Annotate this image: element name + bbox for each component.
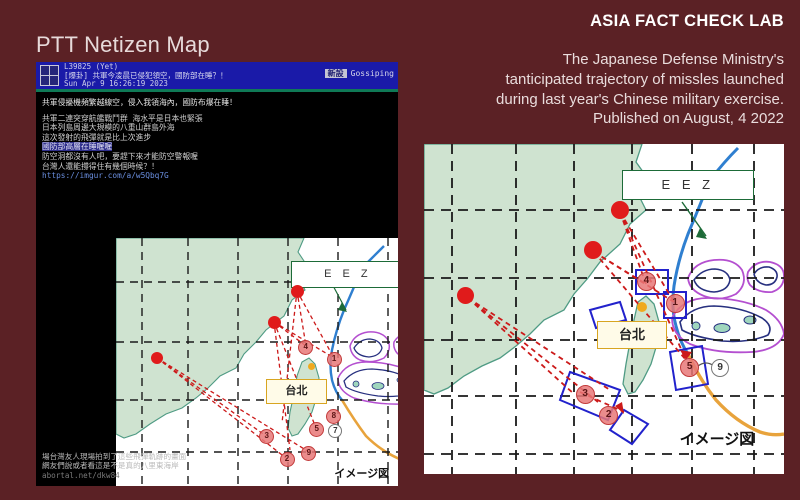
body-line-5: 國防部高層在睡喔喔: [42, 142, 392, 152]
body-line-2: 共軍二連突穿航艦戰鬥群 海水平是日本也緊張: [42, 114, 392, 124]
caption-line-2: tanticipated trajectory of missles launc…: [414, 70, 784, 90]
caption-line-1: The Japanese Defense Ministry's: [414, 50, 784, 70]
impact-marker-5: 5: [309, 422, 324, 437]
embedded-map-left: E E Z 台北 イメージ図 4 1 8 5 7 3 2 9: [116, 238, 398, 486]
taipei-label-left: 台北: [266, 379, 327, 404]
body-line-5-text: 國防部高層在睡喔喔: [42, 142, 112, 151]
terminal-title-bar: L39825 (Yet) [爆卦] 共軍今凌晨已侵犯領空，國防部在睡？！ Sun…: [36, 62, 398, 89]
terminal-footer-text: 場台灣友人現場拍到了這些飛彈軌跡的畫面 網友們說或者看這是不是真的八里東海岸 a…: [42, 452, 392, 480]
caption-line-3: during last year's Chinese military exer…: [414, 90, 784, 110]
image-diagram-label-right: イメージ図: [680, 428, 755, 449]
page-title: PTT Netizen Map: [36, 32, 210, 58]
terminal-divider: [36, 89, 398, 92]
body-line-6: 防空洞都沒有人吧，要趕下來才能防空警報喔: [42, 152, 392, 162]
launch-site-dot: [584, 241, 602, 259]
impact-marker-1: 1: [666, 294, 685, 313]
footer-line-2: 網友們說或者看這是不是真的八里東海岸: [42, 461, 392, 470]
body-line-3: 日本列島周邊大規模的八重山群島外海: [42, 123, 392, 133]
body-line-7: 台灣人還能撐得住有幾個時候？！: [42, 162, 392, 172]
body-url[interactable]: https://imgur.com/a/w5Qbq7G: [42, 171, 392, 181]
terminal-body-text: 共軍侵擾機頻繁越線空，侵入我領海內，國防布爆在睡！ 共軍二連突穿航艦戰鬥群 海水…: [42, 98, 392, 181]
impact-marker-7: 7: [328, 424, 342, 438]
taipei-label-right: 台北: [597, 321, 667, 349]
launch-site-dot: [268, 316, 281, 329]
impact-marker-1: 1: [327, 352, 342, 367]
map-right-inner: E E Z 台北 イメージ図 4 1 5 9 3 2: [424, 144, 784, 474]
eez-label-left: E E Z: [291, 261, 398, 288]
body-line-0: 共軍侵擾機頻繁越線空，侵入我領海內，國防布爆在睡！: [42, 98, 392, 108]
launch-site-dot: [291, 285, 304, 298]
caption-block: The Japanese Defense Ministry's tanticip…: [414, 50, 784, 129]
footer-url[interactable]: abortal.net/dkw84: [42, 471, 392, 480]
ptt-screenshot-panel: L39825 (Yet) [爆卦] 共軍今凌晨已侵犯領空，國防部在睡？！ Sun…: [36, 62, 398, 486]
map-left-inner: E E Z 台北 イメージ図 4 1 8 5 7 3 2 9: [116, 238, 398, 486]
eez-label-right: E E Z: [622, 170, 754, 200]
board-name: Gossiping: [351, 69, 394, 78]
impact-marker-9: 9: [711, 359, 729, 377]
brand-title: ASIA FACT CHECK LAB: [590, 12, 784, 31]
defense-ministry-map: E E Z 台北 イメージ図 4 1 5 9 3 2: [424, 144, 784, 474]
footer-line-1: 場台灣友人現場拍到了這些飛彈軌跡的畫面: [42, 452, 392, 461]
board-tag: 新設: [325, 69, 347, 78]
launch-site-dot: [151, 352, 163, 364]
impact-marker-3: 3: [576, 385, 595, 404]
post-date: Sun Apr 9 16:26:19 2023: [64, 80, 228, 89]
taipei-city-dot: [308, 363, 315, 370]
poster-root: ASIA FACT CHECK LAB The Japanese Defense…: [0, 0, 800, 500]
body-line-4: 這次發射的飛彈就是比上次進步: [42, 133, 392, 143]
board-indicator: 新設Gossiping: [325, 68, 394, 79]
terminal-post-meta: L39825 (Yet) [爆卦] 共軍今凌晨已侵犯領空，國防部在睡？！ Sun…: [64, 63, 228, 89]
bbs-logo-icon: [40, 65, 59, 86]
caption-line-4: Published on August, 4 2022: [414, 109, 784, 129]
